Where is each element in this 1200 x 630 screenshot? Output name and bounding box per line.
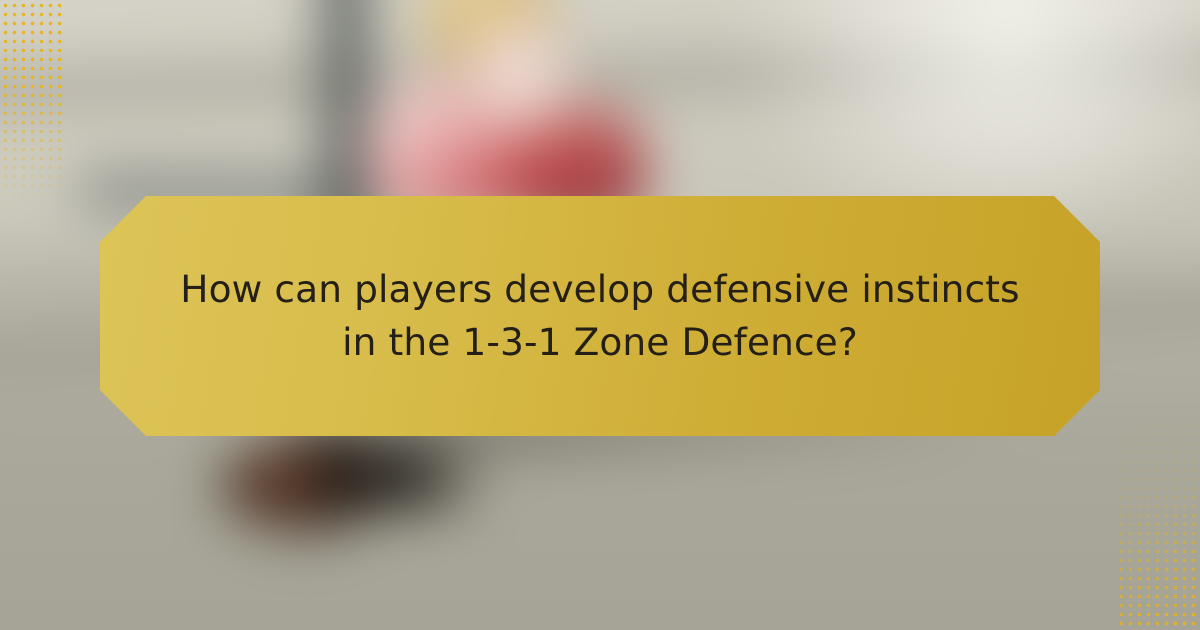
social-card: How can players develop defensive instin…: [0, 0, 1200, 630]
headline-text: How can players develop defensive instin…: [170, 263, 1030, 369]
headline-banner: How can players develop defensive instin…: [100, 196, 1100, 436]
photo-basketball-shadow: [320, 458, 490, 507]
headline-line-2: in the 1-3-1 Zone Defence?: [170, 316, 1030, 369]
headline-line-1: How can players develop defensive instin…: [170, 263, 1030, 316]
photo-child-face: [467, 21, 569, 131]
